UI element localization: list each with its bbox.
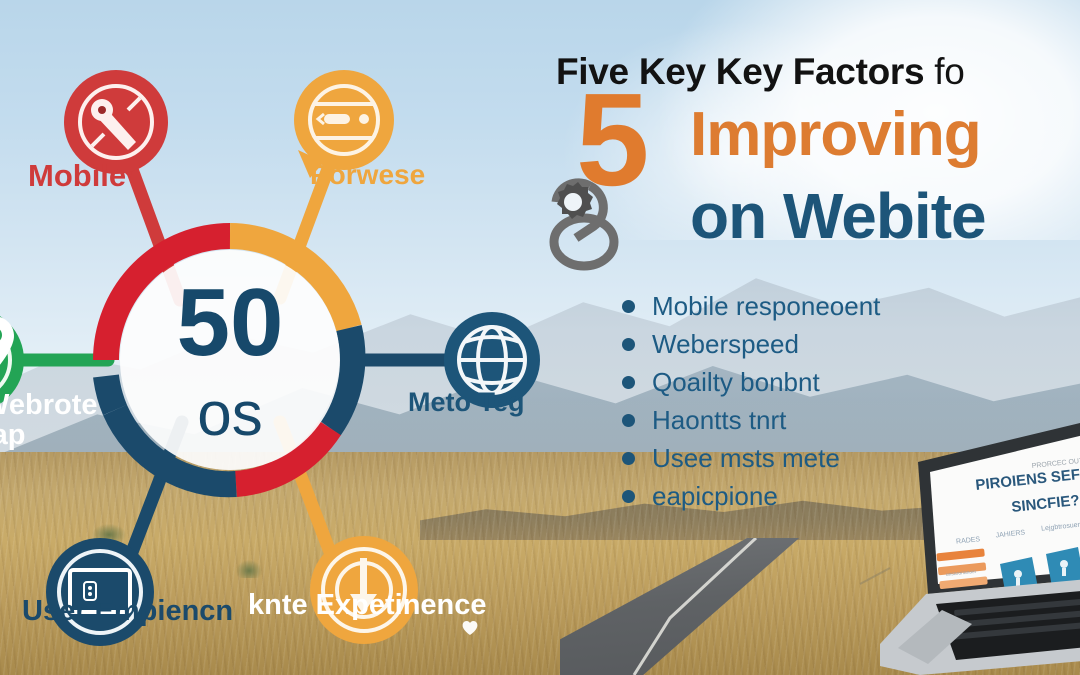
node-label-knteexp: knte Expetinence — [248, 590, 487, 620]
laptop-base — [880, 574, 1080, 675]
screen-bar-group — [936, 548, 988, 589]
bullet-label: Qoailty bonbnt — [652, 367, 820, 398]
bullet-label: Usee msts mete — [652, 443, 840, 474]
node-label-webrote: Webrote tap — [0, 390, 97, 451]
node-label-mobile: Mobile — [28, 160, 126, 193]
bullet-label: eapicpione — [652, 481, 778, 512]
bullet-dot-icon — [622, 452, 635, 465]
infographic-canvas: Five Key Key Factors fo 5 Improving on W… — [0, 0, 1080, 675]
five-factor-wheel-diagram: 50 os — [0, 30, 560, 650]
list-item: Qoailty bonbnt — [622, 364, 1042, 400]
globe-icon — [459, 327, 525, 393]
bullet-dot-icon — [622, 300, 635, 313]
ring-segment-left — [106, 376, 115, 410]
laptop-screen: PRORCEC OUTETINE PIROIENS SEFITERS SINCF… — [918, 408, 1080, 596]
bullet-dot-icon — [622, 338, 635, 351]
bullet-dot-icon — [622, 490, 635, 503]
bullet-label: Mobile responeoent — [652, 291, 880, 322]
headline-thin-text: fo — [924, 51, 964, 92]
list-item: Weberspeed — [622, 326, 1042, 362]
node-label-userexp: User Empiencn — [22, 596, 233, 626]
bullet-dot-icon — [622, 414, 635, 427]
bullet-dot-icon — [622, 376, 635, 389]
wheel-center-number: 50 — [177, 269, 284, 376]
headline-line-3: on Webite — [690, 184, 986, 248]
wheel-center-unit: os — [197, 380, 262, 449]
heart-icon — [462, 620, 478, 636]
bullet-label: Weberspeed — [652, 329, 799, 360]
node-label-metoteg: Meto Teg — [408, 388, 525, 416]
node-label-porwese: Porwese — [310, 160, 425, 189]
headline-line-2: Improving — [690, 104, 981, 166]
laptop-illustration: PRORCEC OUTETINE PIROIENS SEFITERS SINCF… — [880, 398, 1080, 675]
bullet-label: Haontts tnrt — [652, 405, 786, 436]
list-item: Mobile responeoent — [622, 288, 1042, 324]
wheel-node-userexp[interactable] — [46, 538, 154, 646]
